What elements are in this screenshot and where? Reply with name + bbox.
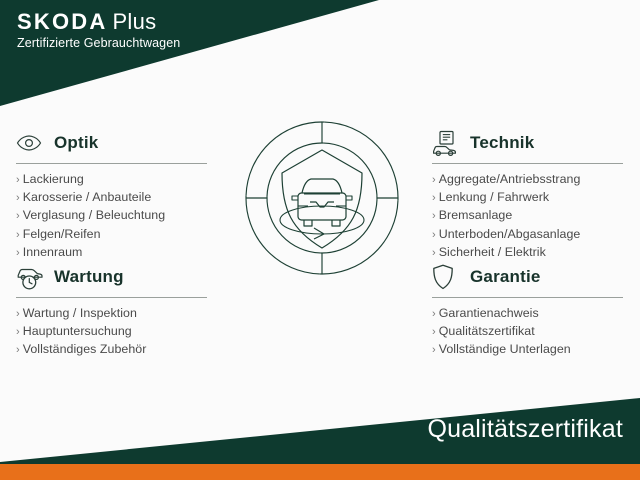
list-item: ›Lenkung / Fahrwerk <box>432 189 627 207</box>
section-header: Technik <box>432 128 627 158</box>
list-item: ›Unterboden/Abgasanlage <box>432 226 627 244</box>
chevron-right-icon: › <box>16 229 20 241</box>
list-item-label: Unterboden/Abgasanlage <box>439 227 581 241</box>
list-item: ›Innenraum <box>16 244 211 262</box>
section-item-list: ›Garantienachweis ›Qualitätszertifikat ›… <box>432 298 627 360</box>
list-item: ›Verglasung / Beleuchtung <box>16 207 211 225</box>
eye-icon <box>16 129 46 157</box>
list-item: ›Vollständige Unterlagen <box>432 341 627 359</box>
list-item: ›Aggregate/Antriebsstrang <box>432 171 627 189</box>
chevron-right-icon: › <box>432 229 436 241</box>
brand-name-primary: SKODA <box>17 9 107 34</box>
list-item: ›Wartung / Inspektion <box>16 305 211 323</box>
list-item-label: Wartung / Inspektion <box>23 306 137 320</box>
chevron-right-icon: › <box>16 308 20 320</box>
list-item: ›Bremsanlage <box>432 207 627 225</box>
brand-name-row: SKODAPlus <box>17 10 180 33</box>
list-item-label: Felgen/Reifen <box>23 227 101 241</box>
section-wartung: Wartung ›Wartung / Inspektion ›Hauptunte… <box>16 262 211 360</box>
car-document-icon <box>432 129 462 157</box>
section-title: Optik <box>54 133 98 153</box>
list-item: ›Lackierung <box>16 171 211 189</box>
section-garantie: Garantie ›Garantienachweis ›Qualitätszer… <box>432 262 627 360</box>
chevron-right-icon: › <box>432 308 436 320</box>
section-title: Wartung <box>54 267 124 287</box>
section-header: Optik <box>16 128 211 158</box>
chevron-right-icon: › <box>432 174 436 186</box>
chevron-right-icon: › <box>432 192 436 204</box>
section-item-list: ›Aggregate/Antriebsstrang ›Lenkung / Fah… <box>432 164 627 262</box>
chevron-right-icon: › <box>16 174 20 186</box>
section-item-list: ›Wartung / Inspektion ›Hauptuntersuchung… <box>16 298 211 360</box>
chevron-right-icon: › <box>432 326 436 338</box>
list-item-label: Karosserie / Anbauteile <box>23 190 152 204</box>
certificate-graphic: SKODAPlus Zertifizierte Gebrauchtwagen O… <box>0 0 640 480</box>
list-item-label: Garantienachweis <box>439 306 539 320</box>
section-item-list: ›Lackierung ›Karosserie / Anbauteile ›Ve… <box>16 164 211 262</box>
chevron-right-icon: › <box>432 210 436 222</box>
list-item-label: Bremsanlage <box>439 208 513 222</box>
list-item-label: Lackierung <box>23 172 84 186</box>
chevron-right-icon: › <box>432 247 436 259</box>
list-item: ›Felgen/Reifen <box>16 226 211 244</box>
chevron-right-icon: › <box>16 344 20 356</box>
list-item-label: Qualitätszertifikat <box>439 324 535 338</box>
list-item-label: Hauptuntersuchung <box>23 324 132 338</box>
list-item-label: Vollständiges Zubehör <box>23 342 147 356</box>
footer-orange-stripe <box>0 464 640 480</box>
list-item: ›Garantienachweis <box>432 305 627 323</box>
list-item: ›Hauptuntersuchung <box>16 323 211 341</box>
list-item: ›Sicherheit / Elektrik <box>432 244 627 262</box>
section-title: Garantie <box>470 267 541 287</box>
chevron-right-icon: › <box>16 326 20 338</box>
chevron-right-icon: › <box>432 344 436 356</box>
section-header: Wartung <box>16 262 211 292</box>
brand-lockup: SKODAPlus Zertifizierte Gebrauchtwagen <box>17 10 180 50</box>
list-item-label: Sicherheit / Elektrik <box>439 245 546 259</box>
chevron-right-icon: › <box>16 247 20 259</box>
shield-icon <box>432 263 462 291</box>
brand-tagline: Zertifizierte Gebrauchtwagen <box>17 37 180 50</box>
chevron-right-icon: › <box>16 210 20 222</box>
list-item: ›Qualitätszertifikat <box>432 323 627 341</box>
chevron-right-icon: › <box>16 192 20 204</box>
brand-name-secondary: Plus <box>112 9 156 34</box>
section-optik: Optik ›Lackierung ›Karosserie / Anbautei… <box>16 128 211 262</box>
list-item-label: Lenkung / Fahrwerk <box>439 190 549 204</box>
list-item: ›Vollständiges Zubehör <box>16 341 211 359</box>
footer-title: Qualitätszertifikat <box>427 415 623 444</box>
list-item-label: Verglasung / Beleuchtung <box>23 208 165 222</box>
list-item-label: Innenraum <box>23 245 83 259</box>
car-clock-icon <box>16 263 46 291</box>
list-item: ›Karosserie / Anbauteile <box>16 189 211 207</box>
section-technik: Technik ›Aggregate/Antriebsstrang ›Lenku… <box>432 128 627 262</box>
certified-vehicle-emblem <box>242 118 402 278</box>
section-header: Garantie <box>432 262 627 292</box>
section-title: Technik <box>470 133 534 153</box>
list-item-label: Vollständige Unterlagen <box>439 342 571 356</box>
list-item-label: Aggregate/Antriebsstrang <box>439 172 581 186</box>
